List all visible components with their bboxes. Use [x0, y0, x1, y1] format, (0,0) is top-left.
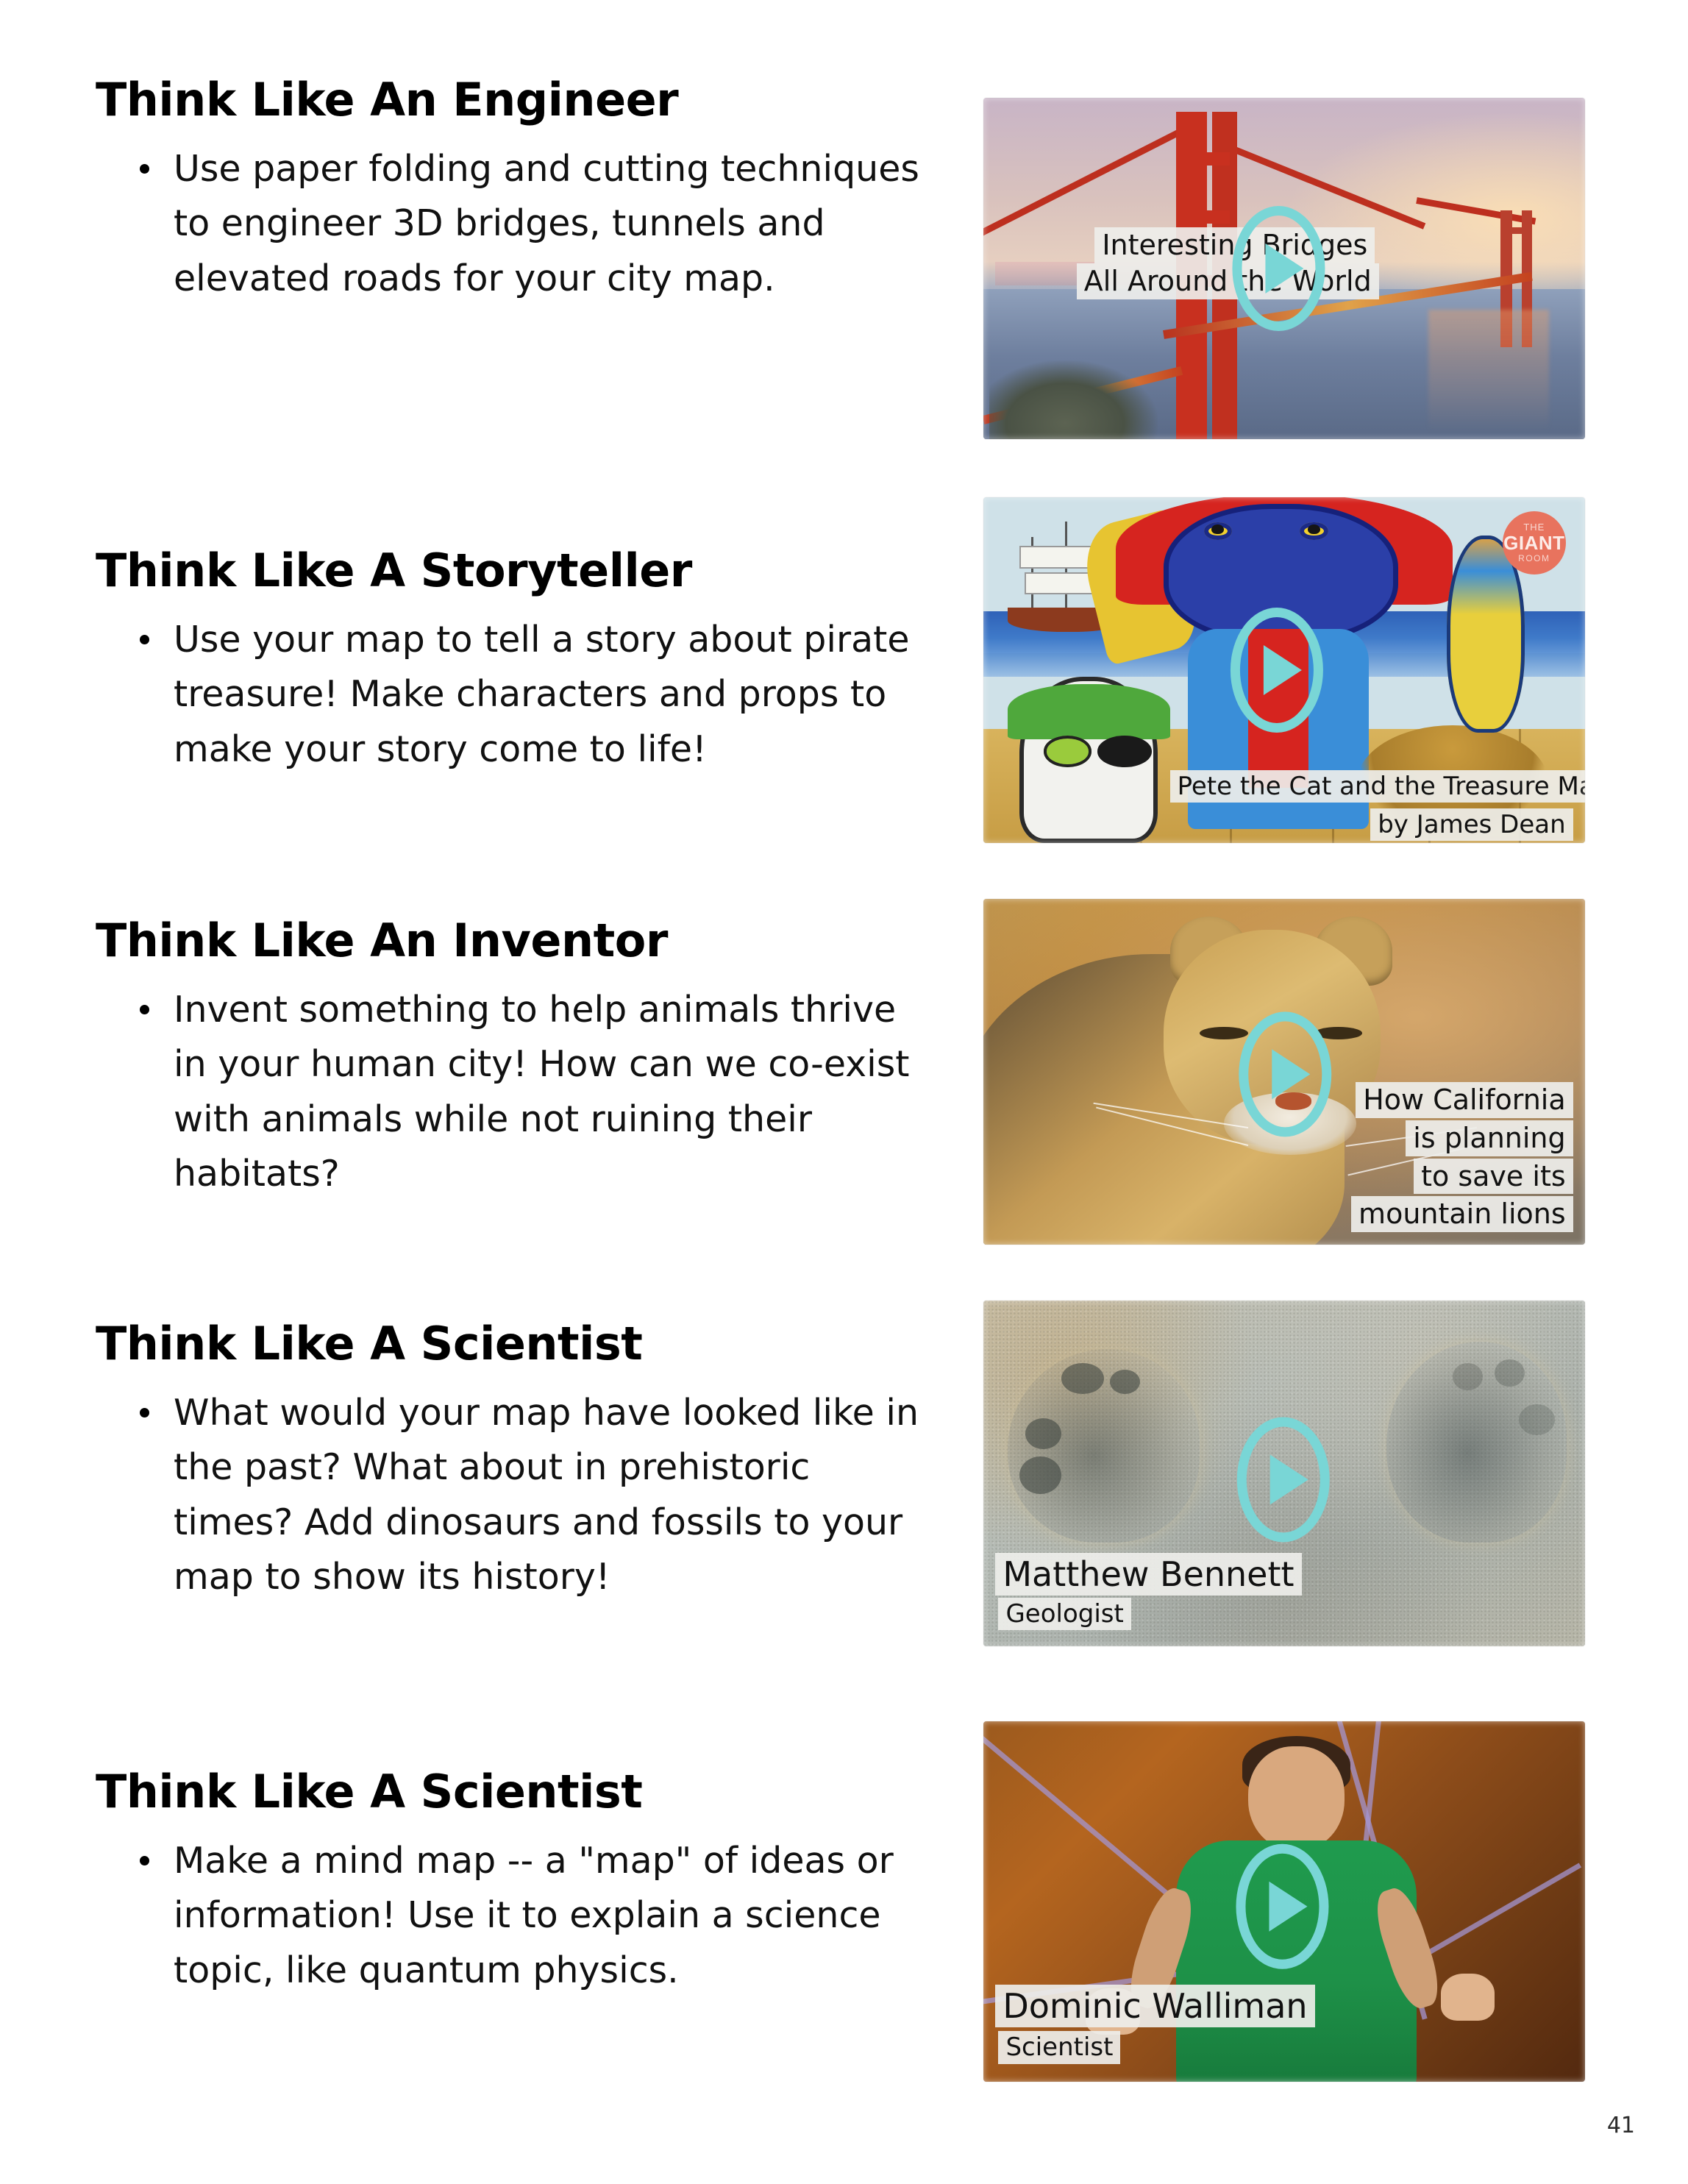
worksheet-page: Think Like An Engineer Use paper folding…: [0, 0, 1688, 2184]
video-caption-line: Dominic Walliman: [995, 1985, 1314, 2027]
section-heading: Think Like An Engineer: [96, 77, 919, 123]
section-text-2: Think Like A Storyteller Use your map to…: [96, 548, 919, 777]
section-heading: Think Like A Scientist: [96, 1769, 919, 1815]
video-thumbnail-4[interactable]: Matthew Bennett Geologist: [983, 1301, 1585, 1646]
video-caption-line: to save its: [1414, 1159, 1573, 1195]
tower-crossbeam: [1176, 210, 1231, 224]
play-triangle-icon: [1270, 1455, 1308, 1505]
play-triangle-icon: [1269, 1882, 1307, 1932]
play-button-icon[interactable]: [1239, 1011, 1331, 1137]
tower-crossbeam: [1500, 227, 1531, 234]
section-text-1: Think Like An Engineer Use paper folding…: [96, 77, 919, 306]
video-caption-line: Matthew Bennett: [995, 1553, 1301, 1596]
section-text-3: Think Like An Inventor Invent something …: [96, 918, 919, 1202]
lion-eye: [1200, 1027, 1247, 1039]
list-item: Use paper folding and cutting techniques…: [96, 142, 919, 306]
person-hand: [1441, 1974, 1495, 2021]
page-number: 41: [1607, 2113, 1635, 2138]
list-item: Make a mind map -- a "map" of ideas or i…: [96, 1834, 919, 1998]
section-heading: Think Like A Storyteller: [96, 548, 919, 594]
person-head: [1248, 1746, 1345, 1851]
bullet-dot-icon: [140, 635, 149, 644]
video-thumbnail-3[interactable]: How California is planning to save its m…: [983, 899, 1585, 1245]
section-text-4: Think Like A Scientist What would your m…: [96, 1321, 919, 1605]
video-thumbnail-2[interactable]: THE GIANT ROOM Pete the Cat and the Trea…: [983, 497, 1585, 843]
eye-patch: [1097, 736, 1152, 766]
section-bullet-list: What would your map have looked like in …: [96, 1386, 919, 1605]
play-triangle-icon: [1265, 243, 1303, 294]
bullet-dot-icon: [140, 1408, 149, 1418]
the-giant-room-badge: THE GIANT ROOM: [1503, 511, 1566, 575]
video-caption-line: Pete the Cat and the Treasure Map: [1170, 770, 1585, 803]
play-button-icon[interactable]: [1231, 608, 1323, 733]
video-caption-line: by James Dean: [1370, 808, 1573, 841]
video-thumbnail-5[interactable]: Dominic Walliman Scientist: [983, 1721, 1585, 2082]
kitten-eye: [1044, 736, 1091, 766]
bullet-text: What would your map have looked like in …: [174, 1392, 919, 1598]
play-triangle-icon: [1272, 1049, 1310, 1099]
video-caption-line: is planning: [1406, 1120, 1573, 1156]
play-button-icon[interactable]: [1237, 1418, 1330, 1543]
water-reflection: [1428, 310, 1549, 433]
section-bullet-list: Use paper folding and cutting techniques…: [96, 142, 919, 306]
badge-line-2: GIANT: [1503, 533, 1564, 552]
list-item: Use your map to tell a story about pirat…: [96, 613, 919, 777]
play-button-icon[interactable]: [1236, 1844, 1328, 1969]
video-thumbnail-1[interactable]: Interesting Bridges All Around the World: [983, 98, 1585, 439]
section-heading: Think Like An Inventor: [96, 918, 919, 964]
bullet-dot-icon: [140, 1856, 149, 1865]
video-caption-line: Geologist: [998, 1598, 1130, 1630]
section-heading: Think Like A Scientist: [96, 1321, 919, 1367]
tower-crossbeam: [1176, 152, 1231, 166]
cat-eye: [1300, 522, 1328, 540]
play-button-icon[interactable]: [1232, 206, 1325, 331]
video-caption-line: Scientist: [998, 2031, 1120, 2063]
suspension-cable: [983, 120, 1198, 241]
foreground-foliage: [989, 360, 1158, 439]
bullet-dot-icon: [140, 164, 149, 174]
video-caption-line: How California: [1356, 1082, 1573, 1118]
section-text-5: Think Like A Scientist Make a mind map -…: [96, 1769, 919, 1998]
bullet-text: Make a mind map -- a "map" of ideas or i…: [174, 1840, 894, 1991]
video-caption-line: mountain lions: [1351, 1196, 1573, 1232]
cat-eye: [1204, 522, 1232, 540]
section-bullet-list: Make a mind map -- a "map" of ideas or i…: [96, 1834, 919, 1998]
section-bullet-list: Invent something to help animals thrive …: [96, 983, 919, 1202]
list-item: What would your map have looked like in …: [96, 1386, 919, 1605]
bullet-text: Use paper folding and cutting techniques…: [174, 148, 919, 299]
section-bullet-list: Use your map to tell a story about pirat…: [96, 613, 919, 777]
video-caption-line: All Around the World: [1077, 263, 1379, 299]
list-item: Invent something to help animals thrive …: [96, 983, 919, 1202]
green-bandana: [1008, 684, 1170, 739]
bullet-dot-icon: [140, 1005, 149, 1014]
badge-line-3: ROOM: [1518, 554, 1550, 563]
bullet-text: Invent something to help animals thrive …: [174, 989, 910, 1195]
play-triangle-icon: [1264, 645, 1302, 695]
badge-line-1: THE: [1523, 522, 1545, 532]
bullet-text: Use your map to tell a story about pirat…: [174, 619, 909, 770]
